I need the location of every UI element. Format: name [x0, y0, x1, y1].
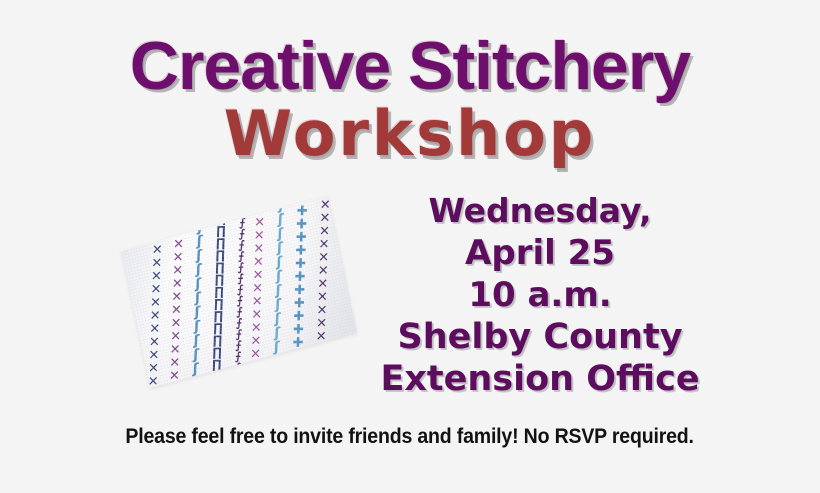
title-secondary: Workshop	[0, 98, 820, 170]
event-details-block: Wednesday, April 25 10 a.m. Shelby Count…	[372, 190, 708, 400]
event-time: 10 a.m.	[372, 274, 708, 316]
flyer-title-block: Creative Stitchery Workshop	[0, 28, 820, 170]
embroidery-sampler-photo	[118, 212, 378, 392]
event-date: April 25	[372, 232, 708, 274]
event-venue-line1: Shelby County	[372, 316, 708, 358]
rsvp-note: Please feel free to invite friends and f…	[126, 424, 694, 450]
flyer-canvas: Creative Stitchery Workshop	[0, 0, 820, 493]
fabric-swatch	[121, 196, 357, 389]
event-venue-line2: Extension Office	[372, 358, 708, 400]
footer-block: Please feel free to invite friends and f…	[0, 424, 820, 450]
title-primary: Creative Stitchery	[0, 28, 820, 104]
event-day: Wednesday,	[372, 190, 708, 232]
